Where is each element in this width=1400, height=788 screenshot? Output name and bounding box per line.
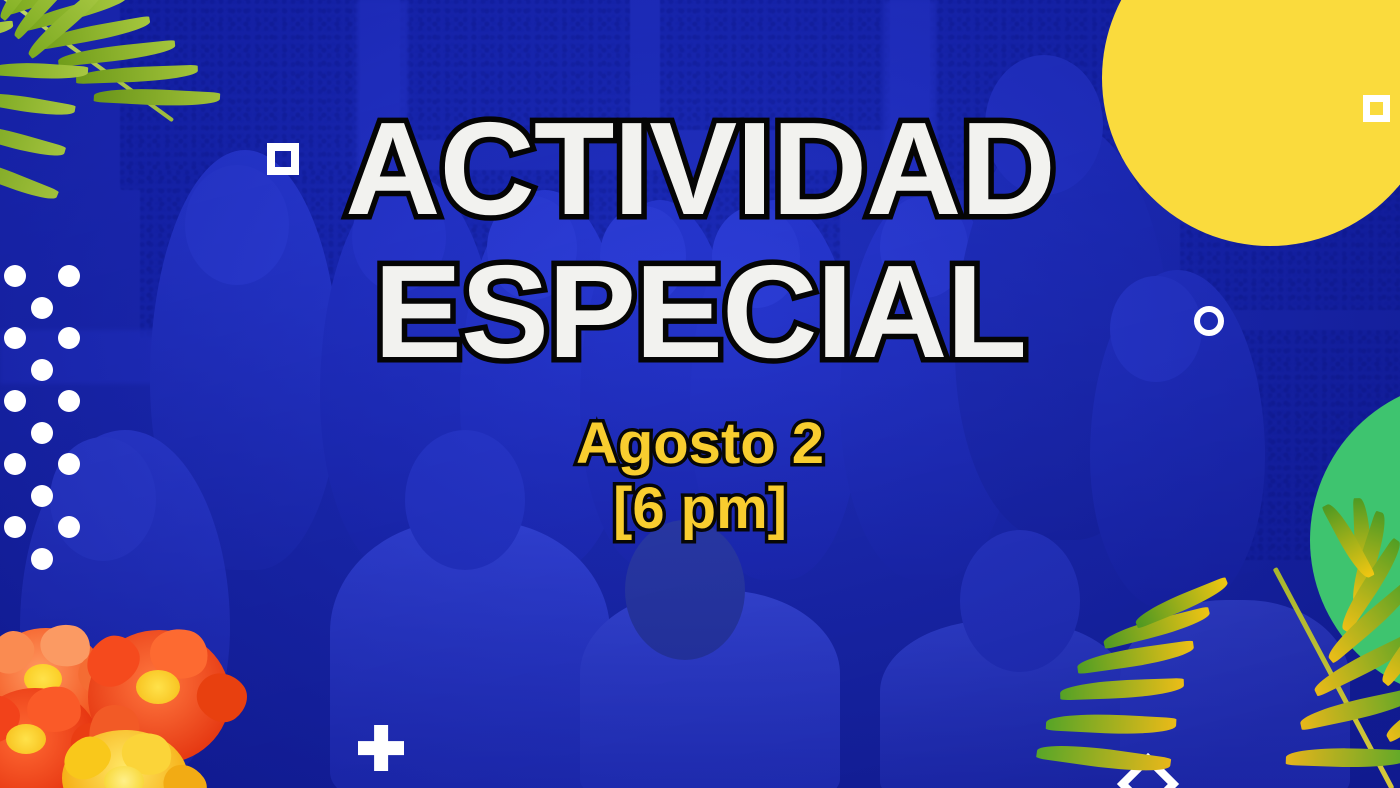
event-date: Agosto 2 (576, 413, 824, 474)
poster-canvas: ACTIVIDAD ESPECIAL Agosto 2 [6 pm] (0, 0, 1400, 788)
poster-text-block: ACTIVIDAD ESPECIAL Agosto 2 [6 pm] (0, 0, 1400, 788)
event-time: [6 pm] (613, 478, 787, 539)
headline-line-1: ACTIVIDAD (345, 104, 1055, 233)
headline-line-2: ESPECIAL (374, 247, 1026, 376)
